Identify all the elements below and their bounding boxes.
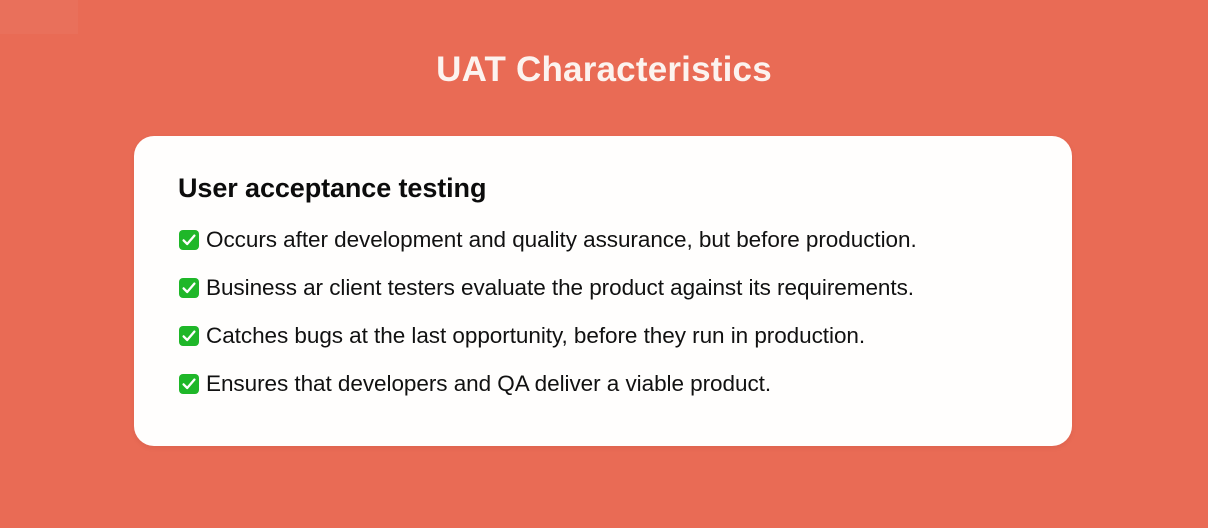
list-item-label: Ensures that developers and QA deliver a… [206, 370, 771, 398]
list-item: Occurs after development and quality ass… [178, 226, 1028, 254]
green-check-mark-icon [178, 373, 200, 395]
list-item: Ensures that developers and QA deliver a… [178, 370, 1028, 398]
green-check-mark-icon [178, 325, 200, 347]
card-heading: User acceptance testing [178, 172, 1028, 204]
list-item: Catches bugs at the last opportunity, be… [178, 322, 1028, 350]
list-item: Business ar client testers evaluate the … [178, 274, 1028, 302]
slide-canvas: UAT Characteristics User acceptance test… [0, 0, 1208, 528]
page-title: UAT Characteristics [0, 47, 1208, 93]
list-item-label: Occurs after development and quality ass… [206, 226, 917, 254]
green-check-mark-icon [178, 277, 200, 299]
list-item-label: Business ar client testers evaluate the … [206, 274, 914, 302]
characteristics-list: Occurs after development and quality ass… [178, 226, 1028, 398]
list-item-label: Catches bugs at the last opportunity, be… [206, 322, 865, 350]
green-check-mark-icon [178, 229, 200, 251]
content-card: User acceptance testing Occurs after dev… [134, 136, 1072, 446]
background-artifact [0, 0, 78, 34]
